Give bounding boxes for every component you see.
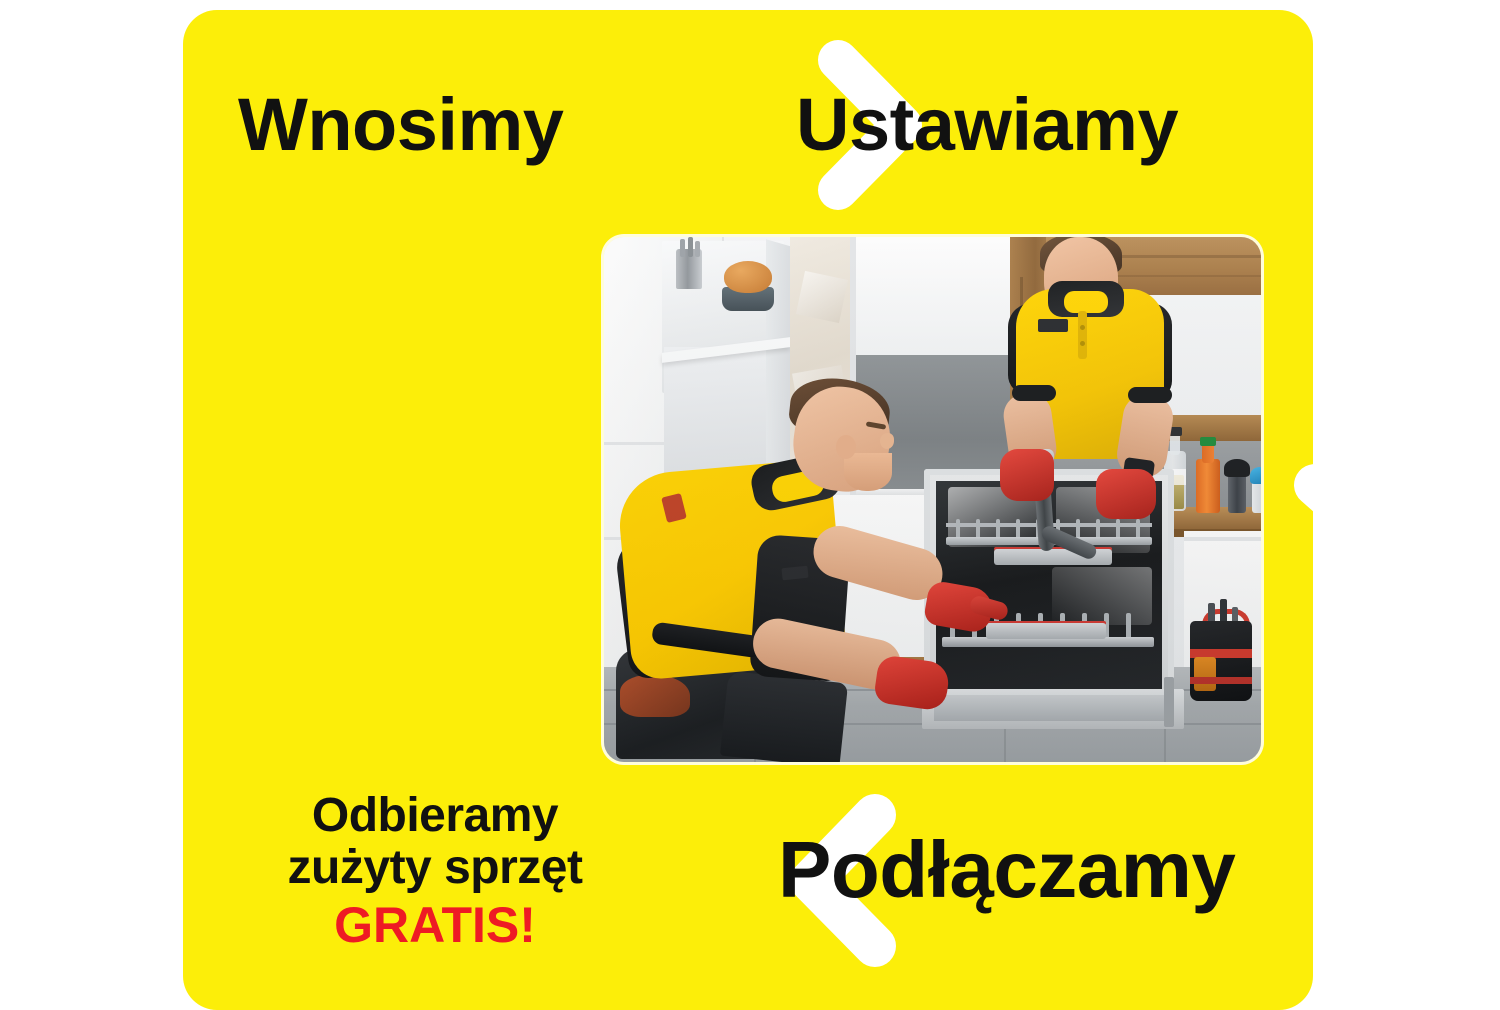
chevron-down-icon [1283, 455, 1313, 575]
trouser-knee-patch [620, 675, 690, 717]
pickup-line-1: Odbieramy [235, 790, 635, 842]
oil-bottle-neck [1170, 433, 1180, 455]
free-badge: GRATIS! [235, 898, 635, 952]
utensil [688, 237, 693, 257]
rack-tine [1096, 519, 1100, 539]
dishwasher-hinge [1164, 677, 1174, 727]
upper-cabinet [850, 237, 1010, 358]
rack-tine [1076, 519, 1080, 539]
salt-shaker [1252, 481, 1261, 513]
cabinet-seam [1184, 537, 1261, 541]
pepper-grinder-top [1224, 459, 1250, 477]
rack-tine [1016, 519, 1020, 539]
rack-tine [996, 519, 1000, 539]
rack-tine [1116, 519, 1120, 539]
step-2-label: Ustawiamy [796, 88, 1178, 162]
tool-bag-pocket [1194, 657, 1216, 691]
company-logo-badge [1038, 319, 1068, 332]
polo-sleeve-cuff [1012, 385, 1056, 401]
front-technician-leg [720, 671, 848, 762]
front-technician-jaw [844, 453, 892, 491]
juice-bottle [1196, 459, 1220, 513]
salt-shaker-cap [1250, 467, 1261, 484]
promo-card: Wnosimy Ustawiamy [183, 10, 1313, 1010]
tool-bag-strap [1190, 677, 1252, 684]
utensil [695, 241, 700, 257]
utensil [680, 239, 685, 257]
step-3-label: Podłączamy [778, 830, 1235, 910]
front-technician-nose [880, 433, 894, 449]
rack-handle [986, 623, 1106, 639]
banner-canvas: Wnosimy Ustawiamy [0, 0, 1500, 1007]
dishwasher-door-inner [934, 695, 1172, 721]
tile-highlight [796, 271, 848, 323]
polo-sleeve-cuff [1128, 387, 1172, 403]
polo-button [1080, 341, 1085, 346]
red-work-glove [1000, 449, 1054, 501]
installation-photo [604, 237, 1261, 762]
polo-collar-inner [1064, 291, 1108, 313]
red-work-glove [1096, 469, 1156, 519]
rack-tine [976, 519, 980, 539]
juice-bottle-cap [1200, 437, 1216, 446]
polo-button [1080, 325, 1085, 330]
step-1-label: Wnosimy [238, 88, 563, 162]
bread-loaf [724, 261, 772, 293]
pickup-line-2: zużyty sprzęt [235, 842, 635, 894]
juice-bottle-neck [1202, 443, 1214, 463]
free-pickup-block: Odbieramy zużyty sprzęt GRATIS! [235, 790, 635, 952]
dishwasher-glare [1052, 567, 1152, 625]
front-technician-ear [836, 435, 856, 459]
pepper-grinder [1228, 473, 1246, 513]
rack-tine [1136, 519, 1140, 539]
polo-placket [1078, 311, 1087, 359]
rack-tine [956, 519, 960, 539]
